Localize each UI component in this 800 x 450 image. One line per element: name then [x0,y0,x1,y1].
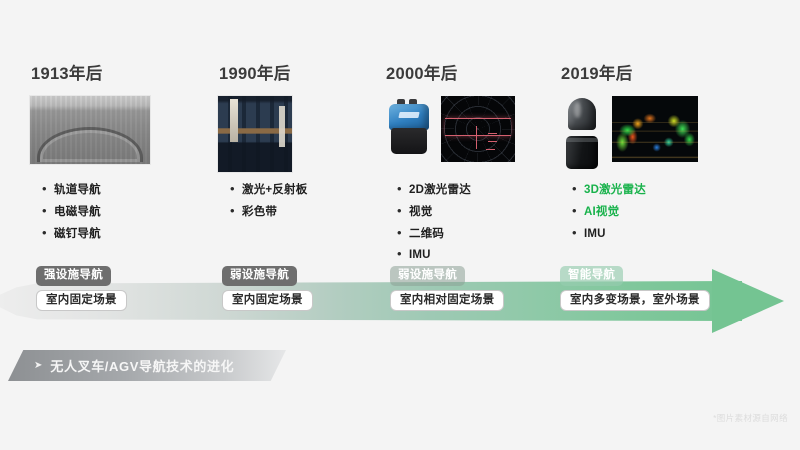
column-title: 2000年后 [386,60,458,84]
status-badge: 智能导航 [560,266,623,286]
list-item: • 磁钉导航 [42,226,101,242]
lidar-3d-dome-icon [568,98,596,130]
bullet-marker-icon: • [397,247,409,260]
column-title: 1990年后 [219,60,291,84]
status-badge: 弱设施导航 [390,266,465,286]
slide-canvas: 1913年后 • 轨道导航 • 电磁导航 • 磁钉导航 [0,0,800,450]
list-item-label: 视觉 [409,206,432,220]
list-item-label: 激光+反射板 [242,184,307,198]
column-bullet-list: • 3D激光雷达 • AI视觉 • IMU [572,182,646,247]
point-cloud-photo [612,96,698,162]
triangle-right-icon: ➤ [34,361,42,371]
scene-chip: 室内固定场景 [36,290,127,312]
stage-scene-row: 室内固定场景 [36,286,127,312]
list-item-label: AI视觉 [584,206,619,220]
stage-label-1913: 强设施导航 室内固定场景 [36,265,127,311]
stage-label-2000: 弱设施导航 室内相对固定场景 [390,265,504,311]
list-item-label: 2D激光雷达 [409,184,471,198]
list-item-label: 二维码 [409,228,444,242]
lidar-3d-cylinder-icon [566,136,598,169]
list-item: • 彩色带 [230,204,307,220]
bullet-marker-icon: • [572,204,584,217]
list-item: • 激光+反射板 [230,182,307,198]
list-item-label: IMU [584,228,606,242]
caption-banner: ➤ 无人叉车/AGV导航技术的进化 [8,350,286,381]
bullet-marker-icon: • [42,204,54,217]
column-title: 1913年后 [31,60,103,84]
stage-label-1990: 弱设施导航 室内固定场景 [222,265,313,311]
list-item-label: 3D激光雷达 [584,184,646,198]
bullet-marker-icon: • [397,226,409,239]
lidar-2d-base-icon [391,128,427,154]
column-bullet-list: • 轨道导航 • 电磁导航 • 磁钉导航 [42,182,101,247]
bullet-marker-icon: • [397,182,409,195]
bullet-marker-icon: • [572,182,584,195]
list-item: • 轨道导航 [42,182,101,198]
list-item: • AI视觉 [572,204,646,220]
list-item-label: 轨道导航 [54,184,101,198]
stage-tag-row: 弱设施导航 [222,265,313,286]
bullet-marker-icon: • [230,204,242,217]
bullet-marker-icon: • [572,226,584,239]
stage-label-2019: 智能导航 室内多变场景，室外场景 [560,265,710,311]
bullet-marker-icon: • [230,182,242,195]
status-badge: 弱设施导航 [222,266,297,286]
stage-tag-row: 强设施导航 [36,265,127,286]
radar-scan-photo [441,96,515,162]
bullet-marker-icon: • [397,204,409,217]
lidar-3d-photo [560,96,604,172]
list-item-label: IMU [409,249,431,263]
scene-chip: 室内多变场景，室外场景 [560,290,710,312]
factory-line-photo [30,96,150,164]
column-media [30,96,150,164]
source-watermark: *图片素材源自网络 [713,412,788,424]
column-bullet-list: • 2D激光雷达 • 视觉 • 二维码 • IMU [397,182,471,269]
scene-chip: 室内固定场景 [222,290,313,312]
scene-chip: 室内相对固定场景 [390,290,504,312]
list-item-label: 彩色带 [242,206,277,220]
list-item: • IMU [397,247,471,263]
list-item-label: 磁钉导航 [54,228,101,242]
scan-vertical-line-icon [476,126,478,148]
timeline-columns: 1913年后 • 轨道导航 • 电磁导航 • 磁钉导航 [0,0,800,260]
column-media [385,96,515,162]
bullet-marker-icon: • [42,226,54,239]
list-item: • 二维码 [397,226,471,242]
column-media [218,96,292,172]
list-item: • 视觉 [397,204,471,220]
caption-title: 无人叉车/AGV导航技术的进化 [50,356,234,375]
lidar-2d-window-icon [398,112,419,118]
stage-scene-row: 室内多变场景，室外场景 [560,286,710,312]
stage-tag-row: 智能导航 [560,265,710,286]
stage-scene-row: 室内固定场景 [222,286,313,312]
list-item: • 3D激光雷达 [572,182,646,198]
timeline-arrow-head-icon [712,269,784,333]
list-item-label: 电磁导航 [54,206,101,220]
scan-tick-marks-icon [488,133,497,135]
lidar-2d-photo [385,96,433,162]
list-item: • 电磁导航 [42,204,101,220]
list-item: • IMU [572,226,646,242]
warehouse-rack-photo [218,96,292,172]
list-item: • 2D激光雷达 [397,182,471,198]
bullet-marker-icon: • [42,182,54,195]
stage-scene-row: 室内相对固定场景 [390,286,504,312]
status-badge: 强设施导航 [36,266,111,286]
column-media [560,96,698,172]
column-bullet-list: • 激光+反射板 • 彩色带 [230,182,307,226]
column-title: 2019年后 [561,60,633,84]
stage-tag-row: 弱设施导航 [390,265,504,286]
